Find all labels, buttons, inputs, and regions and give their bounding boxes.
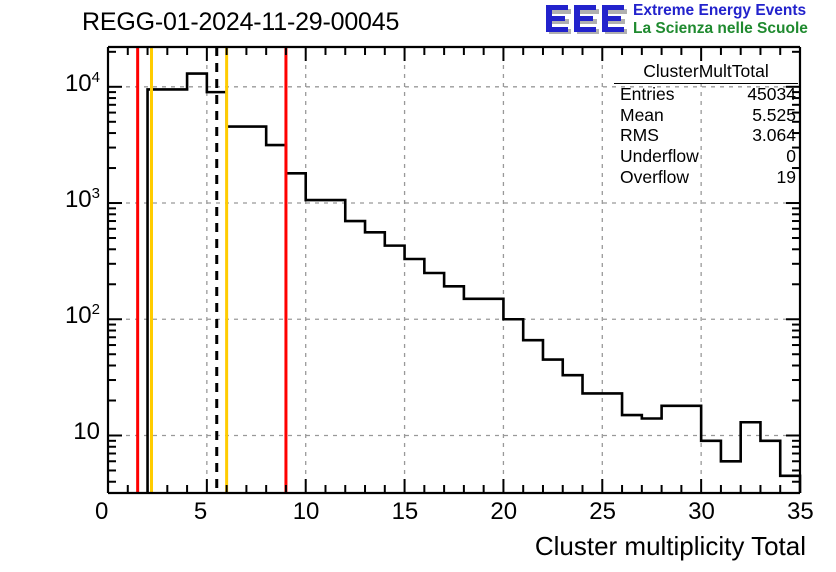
stats-row: RMS3.064	[614, 126, 798, 147]
x-tick-label: 10	[293, 498, 320, 526]
y-tick-label: 10	[26, 418, 100, 446]
stats-row-key: Overflow	[620, 169, 689, 187]
x-tick-label: 35	[787, 498, 814, 526]
x-axis-title: Cluster multiplicity Total	[535, 531, 806, 562]
stats-row-value: 0	[786, 148, 796, 166]
stats-row-key: Entries	[620, 86, 674, 104]
stats-row-key: Mean	[620, 107, 664, 125]
x-tick-label: 30	[688, 498, 715, 526]
x-tick-label: 25	[589, 498, 616, 526]
stats-row-value: 19	[777, 169, 796, 187]
stats-row: Overflow19	[614, 167, 798, 188]
stats-row-key: RMS	[620, 127, 659, 145]
stats-row: Mean5.525	[614, 105, 798, 126]
y-tick-label: 104	[26, 70, 100, 98]
statistics-box: ClusterMultTotal Entries45034Mean5.525RM…	[614, 63, 798, 188]
stats-title: ClusterMultTotal	[614, 63, 798, 84]
x-tick-label: 5	[194, 498, 207, 526]
stats-row: Entries45034	[614, 85, 798, 106]
stats-row-value: 45034	[747, 86, 796, 104]
x-tick-label: 20	[490, 498, 517, 526]
x-tick-label: 15	[392, 498, 419, 526]
x-tick-label: 0	[95, 498, 108, 526]
y-tick-label: 103	[26, 186, 100, 214]
y-tick-label: 102	[26, 302, 100, 330]
stats-row-value: 5.525	[752, 107, 796, 125]
plot-canvas: REGG-01-2024-11-29-00045	[0, 0, 836, 572]
stats-rows: Entries45034Mean5.525RMS3.064Underflow0O…	[614, 85, 798, 188]
stats-row: Underflow0	[614, 147, 798, 168]
stats-row-value: 3.064	[752, 127, 796, 145]
stats-row-key: Underflow	[620, 148, 699, 166]
